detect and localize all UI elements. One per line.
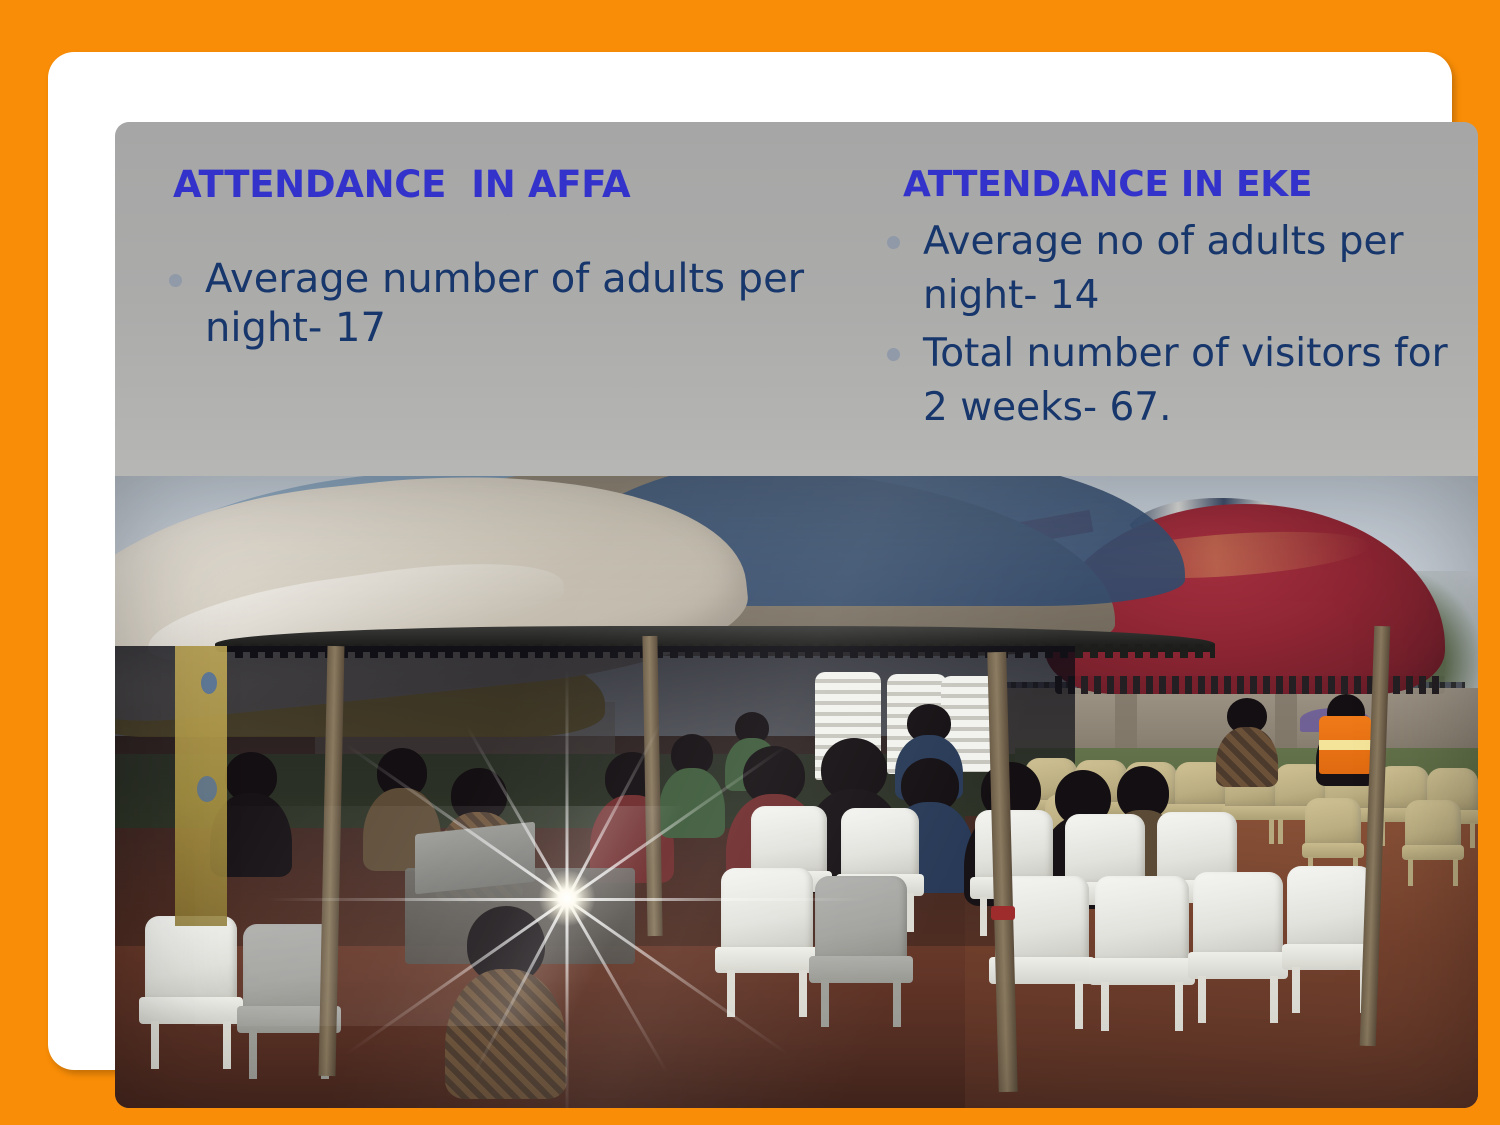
- lens-flare-ray: [566, 670, 569, 900]
- list-item: Average number of adults per night- 17: [155, 255, 805, 353]
- slide-orange-border: ATTENDANCE IN AFFA Average number of adu…: [0, 0, 1500, 1125]
- chair: [1095, 876, 1189, 1028]
- slide-white-frame: ATTENDANCE IN AFFA Average number of adu…: [48, 52, 1452, 1070]
- eke-bullet-text-1: Average no of adults per night- 14: [923, 219, 1404, 318]
- list-item: Total number of visitors for 2 weeks- 67…: [873, 327, 1455, 435]
- column-eke: ATTENDANCE IN EKE Average no of adults p…: [815, 122, 1455, 439]
- lens-flare-ray: [566, 900, 569, 1109]
- eke-title: ATTENDANCE IN EKE: [815, 122, 1455, 207]
- chair: [1405, 800, 1461, 884]
- affa-title: ATTENDANCE IN AFFA: [155, 122, 805, 207]
- chair: [1193, 872, 1283, 1020]
- pole-decoration: [197, 776, 217, 802]
- column-affa: ATTENDANCE IN AFFA Average number of adu…: [155, 122, 805, 353]
- slide-text-area: ATTENDANCE IN AFFA Average number of adu…: [115, 122, 1478, 476]
- lens-flare-ray: [267, 898, 567, 901]
- lens-flare-core: [539, 870, 595, 926]
- slide-content-panel: ATTENDANCE IN AFFA Average number of adu…: [115, 122, 1478, 1108]
- bullet-dot-icon: [887, 348, 900, 361]
- lens-flare-ray: [567, 898, 867, 901]
- pole-red-band: [991, 906, 1015, 920]
- list-item: Average no of adults per night- 14: [873, 215, 1455, 323]
- pole-decoration: [201, 672, 217, 694]
- person: [1227, 698, 1267, 784]
- hi-vis-vest: [1319, 716, 1371, 774]
- bullet-dot-icon: [887, 236, 900, 249]
- affa-bullet-list: Average number of adults per night- 17: [155, 255, 805, 353]
- chair: [1287, 866, 1373, 1010]
- eke-bullet-list: Average no of adults per night- 14 Total…: [815, 215, 1455, 435]
- affa-bullet-text: Average number of adults per night- 17: [205, 256, 804, 351]
- bullet-dot-icon: [169, 274, 182, 287]
- event-photograph: [115, 476, 1478, 1108]
- eke-bullet-text-2: Total number of visitors for 2 weeks- 67…: [923, 331, 1448, 430]
